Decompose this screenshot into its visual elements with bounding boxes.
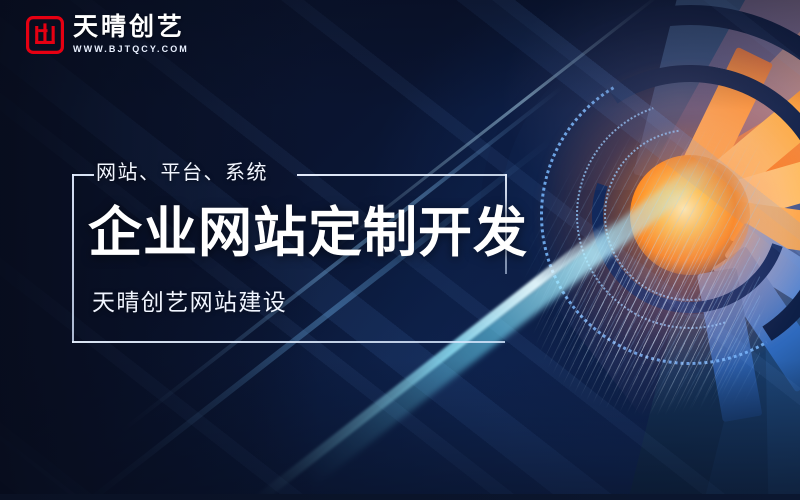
- logo-company-name: 天晴创艺: [73, 15, 189, 40]
- frame-bottom-line: [72, 341, 505, 343]
- logo-text-group: 天晴创艺 WWW.BJTQCY.COM: [73, 14, 189, 55]
- brand-logo[interactable]: 天晴创艺 WWW.BJTQCY.COM: [26, 14, 189, 55]
- bottom-edge-bar: [0, 494, 800, 500]
- logo-website-url: WWW.BJTQCY.COM: [73, 43, 189, 55]
- frame-top-left-stub: [72, 174, 94, 176]
- tianqing-square-logo-icon: [26, 16, 64, 54]
- frame-left-line: [72, 174, 74, 343]
- promotional-banner: 天晴创艺 WWW.BJTQCY.COM 网站、平台、系统 企业网站定制开发 天晴…: [0, 0, 800, 500]
- page-title: 企业网站定制开发: [88, 198, 528, 268]
- subtitle-text: 天晴创艺网站建设: [92, 286, 287, 318]
- top-light-wash: [500, 0, 800, 190]
- frame-top-right-line: [297, 174, 507, 176]
- eyebrow-text: 网站、平台、系统: [96, 160, 268, 186]
